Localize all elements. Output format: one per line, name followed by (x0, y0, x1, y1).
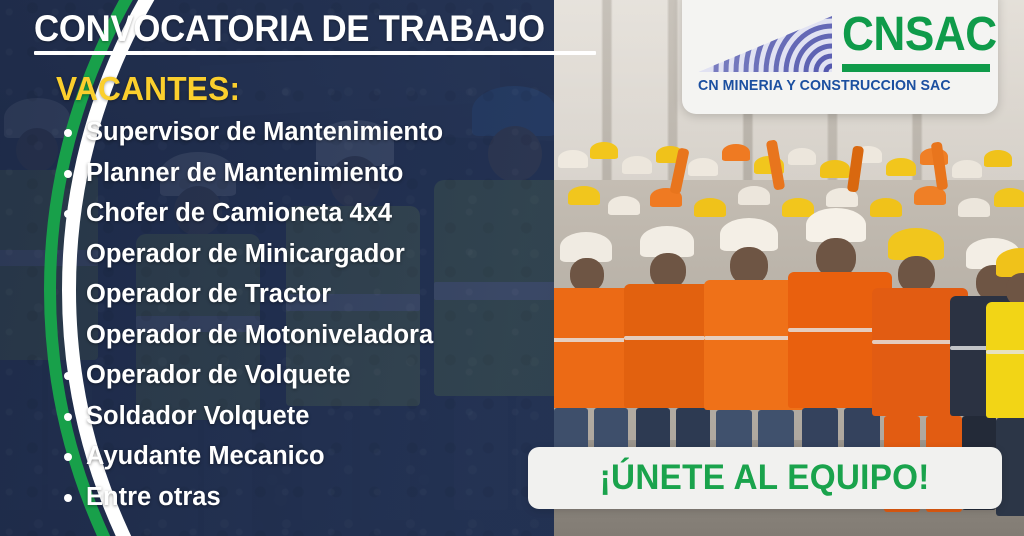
vacancies-list: Supervisor de MantenimientoPlanner de Ma… (56, 112, 596, 517)
join-team-label: ¡ÚNETE AL EQUIPO! (600, 458, 930, 498)
logo-green-bar (842, 64, 990, 72)
vacancy-list-item: Entre otras (56, 477, 596, 518)
vacancy-list-item: Operador de Volquete (56, 355, 596, 396)
cnsac-triangle-arcs-mark-icon (698, 16, 832, 72)
logo-tagline: CN MINERIA Y CONSTRUCCION SAC (698, 78, 951, 94)
vacancy-list-item: Planner de Mantenimiento (56, 153, 596, 194)
vacancy-list-item: Operador de Motoniveladora (56, 315, 596, 356)
vacancy-list-item: Operador de Minicargador (56, 234, 596, 275)
job-posting-poster: CONVOCATORIA DE TRABAJO VACANTES: Superv… (0, 0, 1024, 536)
title-underline-rule (34, 51, 596, 55)
vacancy-list-item: Soldador Volquete (56, 396, 596, 437)
poster-text-content: CONVOCATORIA DE TRABAJO VACANTES: Superv… (0, 0, 620, 536)
logo-brand-text: CNSAC (842, 10, 997, 60)
vacancy-list-item: Ayudante Mecanico (56, 436, 596, 477)
company-logo-card: CNSAC CN MINERIA Y CONSTRUCCION SAC (682, 0, 998, 114)
page-title: CONVOCATORIA DE TRABAJO (34, 8, 545, 50)
vacancies-section-label: VACANTES: (56, 70, 240, 108)
vacancy-list-item: Supervisor de Mantenimiento (56, 112, 596, 153)
join-team-banner[interactable]: ¡ÚNETE AL EQUIPO! (528, 447, 1002, 509)
vacancy-list-item: Operador de Tractor (56, 274, 596, 315)
vacancy-list-item: Chofer de Camioneta 4x4 (56, 193, 596, 234)
